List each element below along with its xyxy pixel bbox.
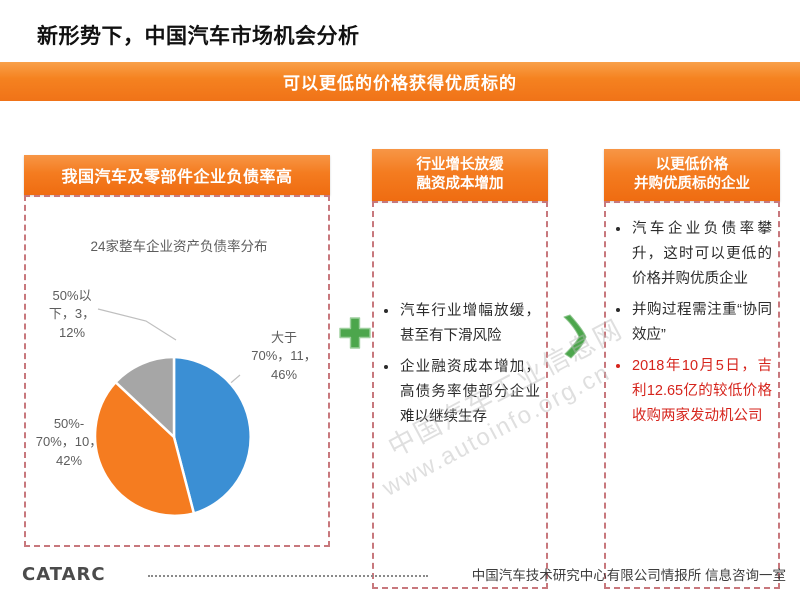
panel-growth-header-line1: 行业增长放缓 xyxy=(417,156,504,175)
slide-canvas: 新形势下，中国汽车市场机会分析 可以更低的价格获得优质标的 我国汽车及零部件企业… xyxy=(0,0,800,600)
leader-line-gray xyxy=(98,309,176,340)
panel-growth-header: 行业增长放缓 融资成本增加 xyxy=(372,149,548,201)
growth-bullet-list: 汽车行业增幅放缓，甚至有下滑风险 企业融资成本增加，高债务率使部分企业难以继续生… xyxy=(378,299,540,430)
panel-debt-header: 我国汽车及零部件企业负债率高 xyxy=(24,155,330,195)
list-item: 并购过程需注重“协同效应” xyxy=(610,298,772,348)
panel-acquisition-body: 汽车企业负债率攀升，这时可以更低的价格并购优质企业 并购过程需注重“协同效应” … xyxy=(604,201,780,589)
panel-growth-body: 汽车行业增幅放缓，甚至有下滑风险 企业融资成本增加，高债务率使部分企业难以继续生… xyxy=(372,201,548,589)
list-item: 汽车行业增幅放缓，甚至有下滑风险 xyxy=(378,299,540,349)
panel-acquisition-header: 以更低价格 并购优质标的企业 xyxy=(604,149,780,201)
footer: CATARC 中国汽车技术研究中心有限公司情报所 信息咨询一室 xyxy=(0,556,800,600)
panel-acquisition-header-line1: 以更低价格 xyxy=(656,156,729,175)
page-title: 新形势下，中国汽车市场机会分析 xyxy=(37,20,360,50)
list-item: 企业融资成本增加，高债务率使部分企业难以继续生存 xyxy=(378,355,540,430)
subtitle-banner-text: 可以更低的价格获得优质标的 xyxy=(283,69,517,94)
footer-divider xyxy=(148,575,428,577)
plus-icon xyxy=(338,316,372,350)
pie-label-50-70: 50%- 70%，10， 42% xyxy=(32,415,106,470)
panel-growth-slowdown: 行业增长放缓 融资成本增加 汽车行业增幅放缓，甚至有下滑风险 企业融资成本增加，… xyxy=(372,149,548,589)
panel-acquisition: 以更低价格 并购优质标的企业 汽车企业负债率攀升，这时可以更低的价格并购优质企业… xyxy=(604,149,780,589)
acquisition-bullet-list: 汽车企业负债率攀升，这时可以更低的价格并购优质企业 并购过程需注重“协同效应” … xyxy=(610,217,772,429)
catarc-logo: CATARC xyxy=(22,564,106,585)
chevron-right-icon xyxy=(562,312,594,360)
pie-label-below-50: 50%以 下，3， 12% xyxy=(40,287,104,342)
subtitle-banner: 可以更低的价格获得优质标的 xyxy=(0,62,800,101)
panel-debt-ratio: 我国汽车及零部件企业负债率高 24家整车企业资产负债率分布 5 xyxy=(24,155,330,547)
list-item: 汽车企业负债率攀升，这时可以更低的价格并购优质企业 xyxy=(610,217,772,292)
footer-text: 中国汽车技术研究中心有限公司情报所 信息咨询一室 xyxy=(472,564,786,584)
panel-debt-body: 24家整车企业资产负债率分布 50%以 下，3， 12% 50%- 7 xyxy=(24,195,330,547)
panel-growth-header-line2: 融资成本增加 xyxy=(417,175,504,194)
list-item-highlight: 2018年10月5日，吉利12.65亿的较低价格收购两家发动机公司 xyxy=(610,354,772,429)
pie-chart: 50%以 下，3， 12% 50%- 70%，10， 42% 大于 70%，11… xyxy=(26,197,332,549)
panel-acquisition-header-line2: 并购优质标的企业 xyxy=(634,175,750,194)
pie-label-above-70: 大于 70%，11， 46% xyxy=(244,329,324,384)
